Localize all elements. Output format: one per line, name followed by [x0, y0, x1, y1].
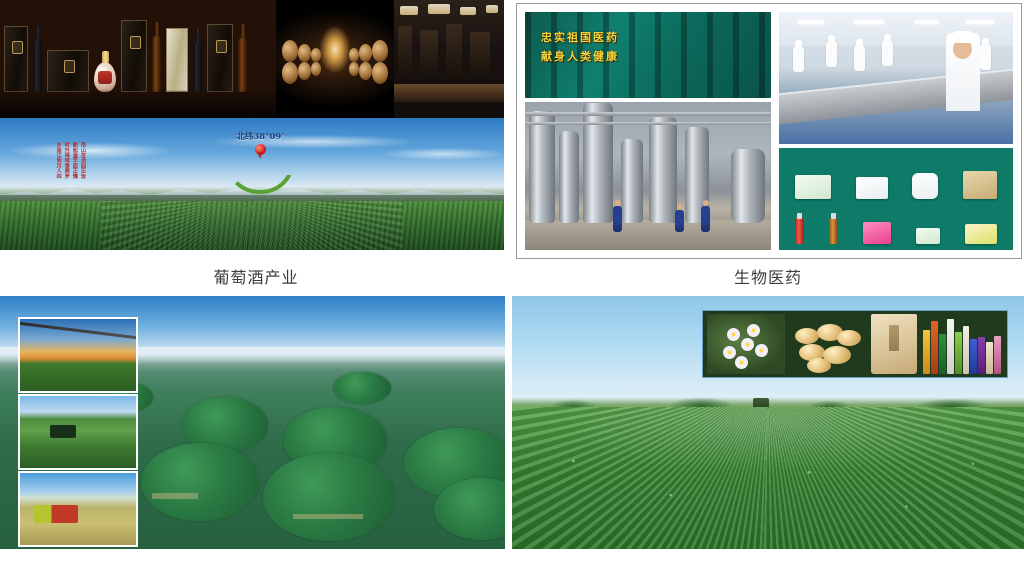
worker-figure: [882, 40, 893, 66]
potato-blossom-cell: [707, 314, 785, 374]
wine-cellar-photo: [276, 0, 394, 118]
slogan-line-1: 忠实祖国医药: [541, 28, 761, 47]
worker-figure: [980, 44, 991, 70]
worker-figure: [613, 206, 622, 232]
production-plant-photo: [525, 102, 771, 250]
latitude-marker: 北纬38°09': [212, 130, 308, 194]
steel-tank-icon: [649, 117, 677, 223]
panel-wine-industry[interactable]: 南山灰酒园忘饭 酿和温早面正懂 时升得域香美罗 岁是江我月人四 北纬38°09'…: [0, 0, 512, 291]
pink-box-icon: [863, 222, 891, 244]
pivot-circle: [333, 372, 391, 404]
field-track: [293, 514, 363, 519]
calligraphy-line: 时升得域香美罗: [64, 142, 70, 198]
shop-interior: [394, 0, 504, 118]
potato-starch-bag-cell: [871, 314, 917, 374]
panel-potato-industry[interactable]: 马铃薯产业: [512, 291, 1024, 582]
bottle-row: [4, 14, 272, 92]
syrup-bottle-icon: [829, 218, 838, 244]
steel-tank-icon: [559, 131, 579, 223]
calligraphy-line: 南山灰酒园忘饭: [80, 142, 86, 198]
thumb-irrigation-sunset: [18, 317, 138, 393]
wine-media-collage: 南山灰酒园忘饭 酿和温早面正懂 时升得域香美罗 岁是江我月人四 北纬38°09': [0, 0, 504, 250]
thumb-forage-harvester: [18, 394, 138, 470]
packaged-products-cell: [921, 314, 1003, 374]
calligraphy-text: 南山灰酒园忘饭 酿和温早面正懂 时升得域香美罗 岁是江我月人四: [28, 142, 86, 198]
powder-pack-icon: [912, 173, 938, 199]
vineyard-photo: 南山灰酒园忘饭 酿和温早面正懂 时升得域香美罗 岁是江我月人四 北纬38°09': [0, 118, 504, 250]
product-showcase-photo: [779, 148, 1013, 250]
medicine-box-icon: [795, 175, 831, 199]
plant-floor: [525, 220, 771, 250]
wine-shop-photo: [394, 0, 504, 118]
vineyard-field: [0, 201, 504, 250]
pivot-circle: [263, 453, 395, 541]
overhead-pipe: [525, 112, 771, 116]
potato-tubers-cell: [789, 314, 867, 374]
foreground-worker-figure: [946, 33, 980, 111]
field-track: [152, 493, 198, 499]
worker-figure: [793, 46, 804, 72]
panel-caption-biopharma: 生物医药: [512, 264, 1024, 288]
medicine-box-icon: [965, 224, 997, 244]
potato-crop-rows: [512, 407, 1024, 549]
syrup-bottle-icon: [795, 218, 804, 244]
slogan-line-2: 献身人类健康: [541, 47, 761, 66]
packaging-line-photo: [779, 12, 1013, 144]
gift-box-icon: [166, 28, 188, 92]
potato-field-photo: [512, 296, 1024, 549]
latitude-label: 北纬38°09': [212, 130, 308, 142]
worker-figure: [826, 41, 837, 67]
worker-figure: [701, 206, 710, 232]
potato-product-banner: [702, 310, 1008, 378]
biopharma-right-column: [779, 12, 1013, 250]
wine-bottles-photo: [0, 0, 276, 118]
ceramic-jar-icon: [94, 62, 116, 92]
thumb-hay-baler: [18, 471, 138, 547]
wine-bottle-icon: [238, 38, 247, 92]
product-row-top: [785, 154, 1007, 199]
barrel-rows: [276, 0, 394, 118]
worker-figure: [854, 45, 865, 71]
medicine-box-icon: [856, 177, 888, 199]
gift-box-icon: [207, 24, 233, 92]
calligraphy-line: 岁是江我月人四: [56, 142, 62, 198]
biopharma-left-column: 忠实祖国医药 献身人类健康: [525, 12, 771, 250]
wine-bottle-icon: [193, 42, 202, 92]
panel-biopharma-industry[interactable]: 忠实祖国医药 献身人类健康: [512, 0, 1024, 291]
biopharma-frame: 忠实祖国医药 献身人类健康: [516, 3, 1022, 259]
aerial-pivot-fields-photo: [0, 296, 505, 549]
calligraphy-line: 酿和温早面正懂: [72, 142, 78, 198]
panel-alfalfa-industry[interactable]: 苜蓿草产业: [0, 291, 512, 582]
biopharma-collage: 忠实祖国医药 献身人类健康: [525, 12, 1013, 250]
gift-box-icon: [4, 26, 28, 92]
wine-bottle-icon: [33, 40, 42, 92]
steel-tank-icon: [529, 111, 555, 223]
map-pin-icon: [255, 144, 266, 159]
sachet-icon: [916, 228, 940, 244]
panel-caption-wine: 葡萄酒产业: [0, 264, 512, 288]
alfalfa-thumbnail-stack: [18, 317, 138, 548]
slogan-banner: 忠实祖国医药 献身人类健康: [525, 12, 771, 98]
steel-tank-icon: [621, 139, 643, 223]
gift-box-icon: [121, 20, 147, 92]
industry-showcase-grid: 南山灰酒园忘饭 酿和温早面正懂 时升得域香美罗 岁是江我月人四 北纬38°09'…: [0, 0, 1024, 582]
pivot-circle: [141, 443, 259, 521]
overhead-pipe: [525, 122, 771, 125]
product-row-bottom: [785, 199, 1007, 244]
slogan-text: 忠实祖国医药 献身人类健康: [541, 28, 761, 67]
worker-figure: [675, 210, 684, 232]
gift-box-icon: [47, 50, 89, 92]
green-arc-icon: [225, 160, 295, 194]
wine-top-strip: [0, 0, 504, 118]
kraft-box-icon: [963, 171, 997, 199]
steel-tank-icon: [731, 149, 765, 223]
wine-bottle-icon: [152, 36, 161, 92]
